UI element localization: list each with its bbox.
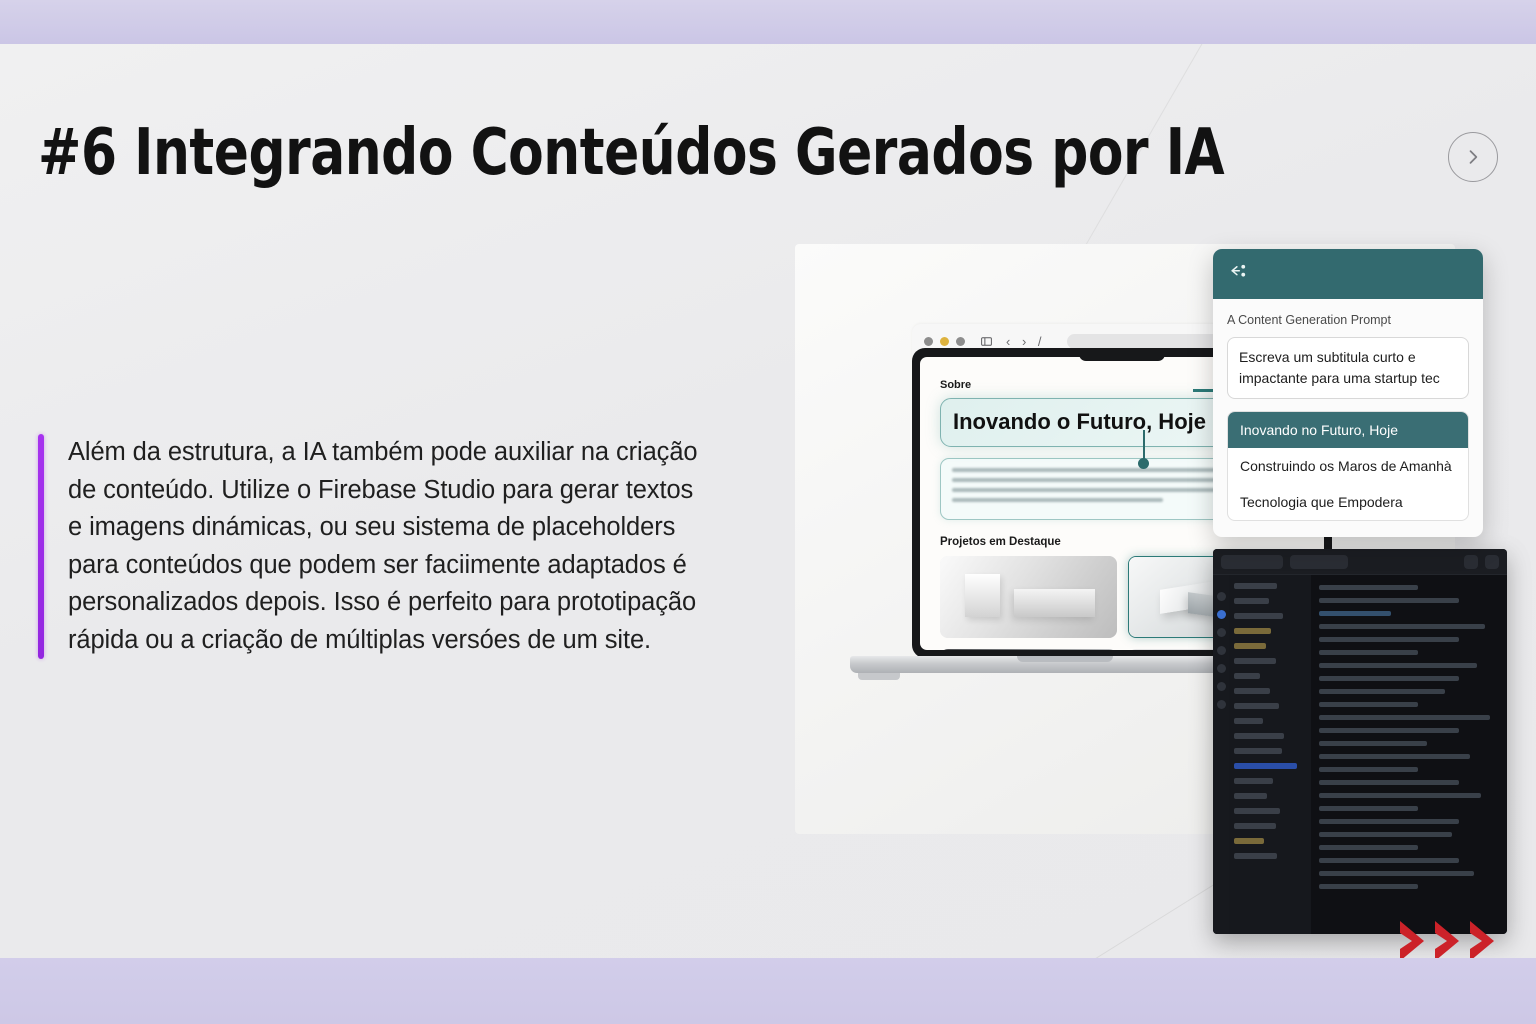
body-paragraph: Além da estrutura, a IA também pode auxi… <box>68 434 708 659</box>
traffic-light-close[interactable] <box>924 337 933 346</box>
laptop-notch <box>1079 348 1165 361</box>
chevron-right-icon <box>1431 918 1463 958</box>
suggestion-option-1[interactable]: Inovando no Futuro, Hoje <box>1228 412 1468 448</box>
mockup-composition: ‹ › / Sobre Inovando o Futuro, Hoje <box>795 194 1515 854</box>
body-copy-block: Além da estrutura, a IA também pode auxi… <box>38 434 708 659</box>
chevron-right-icon <box>1466 918 1498 958</box>
bottom-decorative-band <box>0 958 1536 1024</box>
browser-nav-arrows[interactable]: ‹ › / <box>1006 334 1046 349</box>
chevron-right-icon <box>1396 918 1428 958</box>
share-nodes-icon <box>1229 262 1248 286</box>
editor-code-area[interactable] <box>1311 575 1507 934</box>
prompt-input[interactable]: Escreva um subtitula curto e impactante … <box>1227 337 1469 399</box>
code-editor-window[interactable] <box>1213 549 1507 934</box>
suggestion-option-2[interactable]: Construindo os Maros de Amanhà <box>1228 448 1468 484</box>
top-decorative-band <box>0 0 1536 44</box>
slide-stage: #6 Integrando Conteúdos Gerados por IA A… <box>0 44 1536 958</box>
sidebar-icon[interactable] <box>980 335 993 348</box>
diagonal-line-bottom-left <box>950 874 1231 958</box>
content-generation-panel[interactable]: A Content Generation Prompt Escreva um s… <box>1213 249 1483 537</box>
panel-body: A Content Generation Prompt Escreva um s… <box>1213 299 1483 537</box>
editor-titlebar <box>1213 549 1507 575</box>
project-card[interactable] <box>940 649 1117 650</box>
next-slide-button[interactable] <box>1448 132 1498 182</box>
editor-body <box>1213 575 1507 934</box>
laptop-foot <box>858 673 900 680</box>
chevron-decoration <box>1396 918 1498 958</box>
panel-caption: A Content Generation Prompt <box>1227 313 1469 327</box>
page-title: #6 Integrando Conteúdos Gerados por IA <box>38 116 1224 190</box>
traffic-light-zoom[interactable] <box>956 337 965 346</box>
site-projects-label: Projetos em Destaque <box>940 536 1304 548</box>
panel-header <box>1213 249 1483 299</box>
project-card[interactable] <box>940 556 1117 638</box>
accent-bar <box>38 434 44 659</box>
editor-activity-bar[interactable] <box>1213 575 1229 934</box>
chevron-right-icon <box>1463 147 1483 167</box>
connector-dot <box>1138 458 1149 469</box>
suggestion-list: Inovando no Futuro, Hoje Construindo os … <box>1227 411 1469 521</box>
editor-file-tree[interactable] <box>1229 575 1311 934</box>
suggestion-option-3[interactable]: Tecnologia que Empodera <box>1228 484 1468 520</box>
traffic-light-minimize[interactable] <box>940 337 949 346</box>
